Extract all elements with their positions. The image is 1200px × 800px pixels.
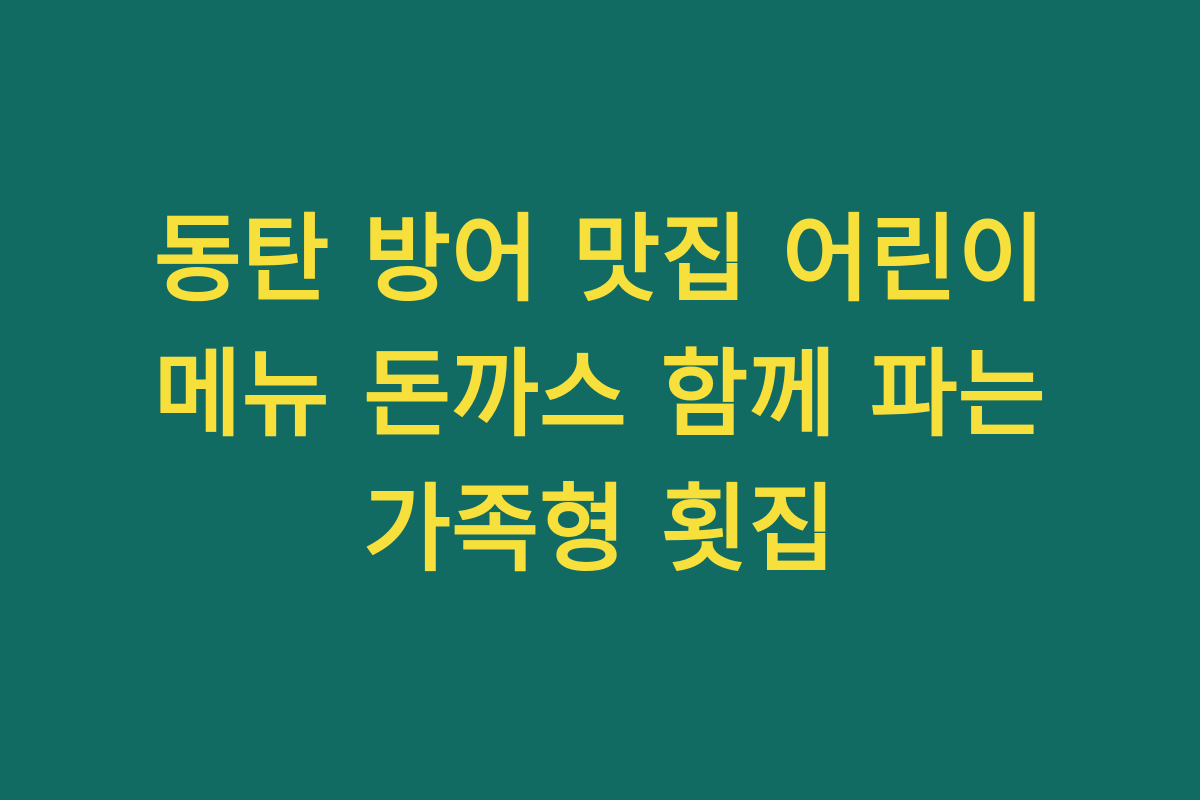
headline-block: 동탄 방어 맛집 어린이 메뉴 돈까스 함께 파는 가족형 횟집 xyxy=(50,193,1150,598)
headline-line-3: 가족형 횟집 xyxy=(50,463,1150,598)
banner-canvas: 동탄 방어 맛집 어린이 메뉴 돈까스 함께 파는 가족형 횟집 xyxy=(0,0,1200,800)
headline-line-1: 동탄 방어 맛집 어린이 xyxy=(50,193,1150,328)
headline-line-2: 메뉴 돈까스 함께 파는 xyxy=(50,328,1150,463)
